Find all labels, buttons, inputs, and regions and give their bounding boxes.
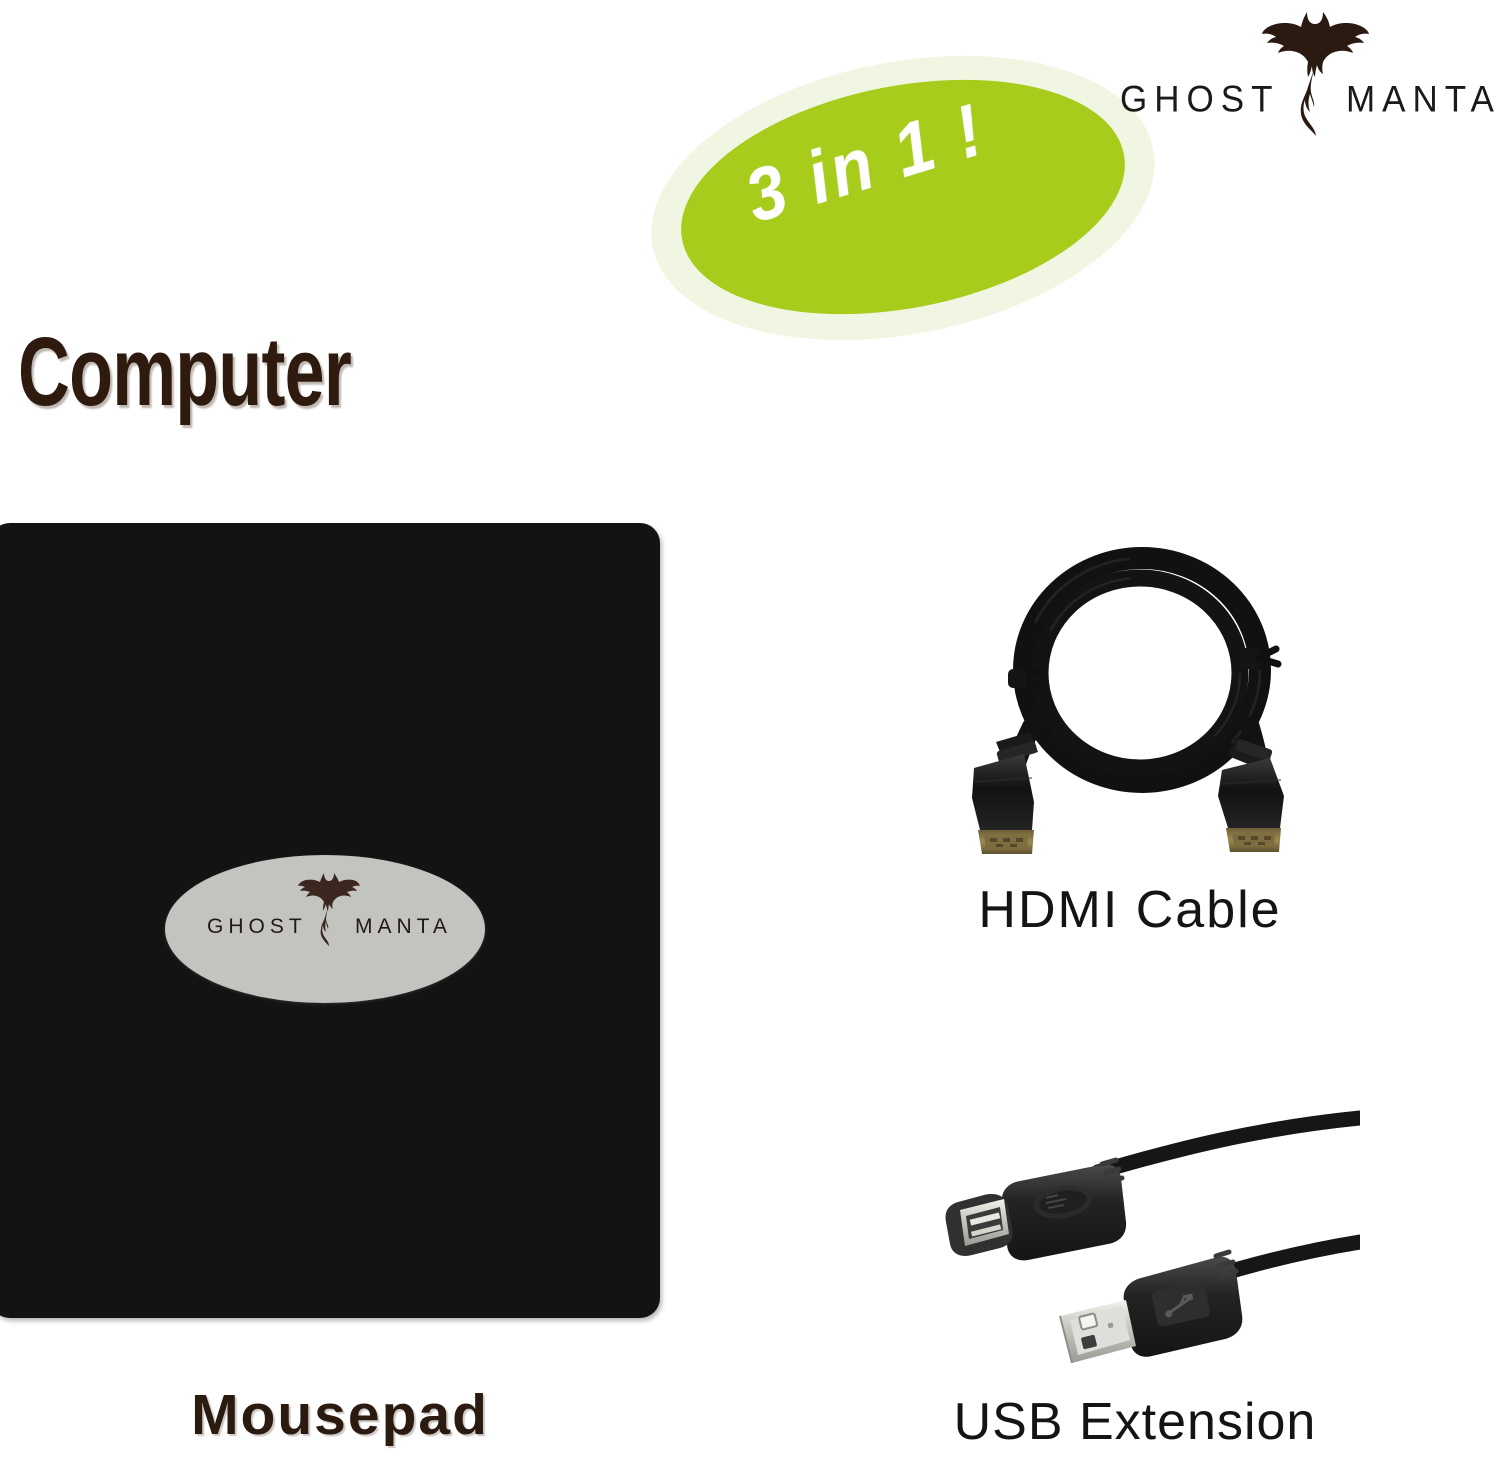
manta-ray-icon — [298, 871, 360, 983]
mousepad-brand-badge: GHOST MANTA — [165, 855, 485, 1003]
three-in-one-badge: 3 in 1 ! — [640, 48, 1170, 348]
manta-ray-icon — [1260, 8, 1370, 138]
product-image-hdmi-cable — [950, 530, 1330, 860]
caption-usb-extension: USB Extension — [900, 1392, 1370, 1452]
caption-hdmi-cable: HDMI Cable — [920, 880, 1340, 940]
mousepad-brand-right: MANTA — [355, 915, 452, 939]
caption-mousepad: Mousepad — [60, 1382, 620, 1448]
product-image-mousepad: GHOST MANTA — [0, 523, 660, 1318]
page-title-line-1: Computer — [18, 324, 536, 420]
brand-name-left: GHOST — [1120, 79, 1279, 121]
brand-logo: GHOST MANTA — [1108, 8, 1492, 138]
product-image-usb-extension — [930, 1110, 1360, 1380]
mousepad-brand-left: GHOST — [207, 915, 307, 939]
